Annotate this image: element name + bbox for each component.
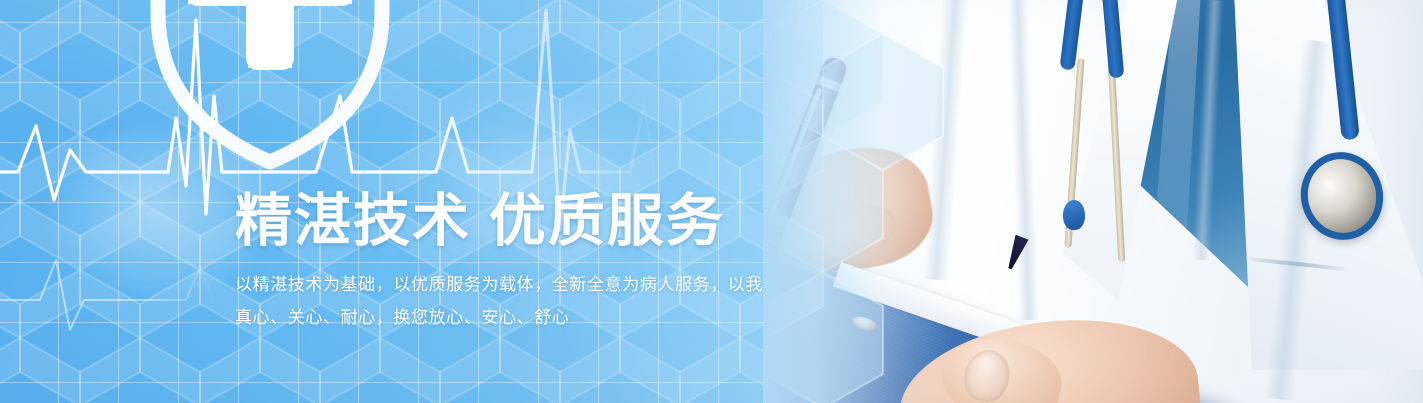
spacer: [235, 252, 935, 268]
pen-clip-knob: [1063, 200, 1085, 230]
banner-subtitle: 以精湛技术为基础，以优质服务为载体，全新全意为病人服务，以我 真心、关心、耐心，…: [235, 268, 763, 334]
page-title: 精湛技术 优质服务: [235, 192, 935, 252]
banner-subtitle-line2: 真心、关心、耐心，换您放心、安心、舒心: [235, 308, 569, 327]
medical-hero-banner: 精湛技术 优质服务 以精湛技术为基础，以优质服务为载体，全新全意为病人服务，以我…: [0, 0, 1423, 403]
banner-subtitle-line1: 以精湛技术为基础，以优质服务为载体，全新全意为病人服务，以我: [235, 275, 763, 294]
banner-text-block: 精湛技术 优质服务 以精湛技术为基础，以优质服务为载体，全新全意为病人服务，以我…: [235, 192, 935, 334]
